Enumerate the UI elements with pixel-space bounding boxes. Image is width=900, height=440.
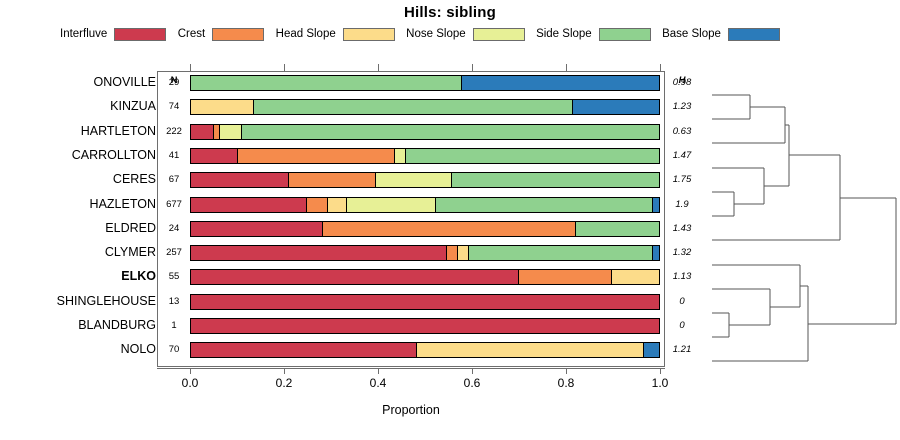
- bar-segment-crest[interactable]: [519, 270, 612, 284]
- x-tick: [566, 368, 567, 374]
- bar-segment-base-slope[interactable]: [653, 198, 659, 212]
- row-n-value: 1: [160, 320, 188, 331]
- row-n-value: 41: [160, 150, 188, 161]
- row-label-clymer: CLYMER: [105, 245, 156, 259]
- bar-segment-crest[interactable]: [238, 149, 396, 163]
- bar-segment-side-slope[interactable]: [469, 246, 653, 260]
- stacked-bar[interactable]: [190, 342, 660, 358]
- stacked-bar[interactable]: [190, 269, 660, 285]
- x-tick-top: [566, 64, 567, 71]
- bar-segment-base-slope[interactable]: [462, 76, 659, 90]
- chart-root: Hills: sibling Interfluve Crest Head Slo…: [0, 0, 900, 440]
- row-label-nolo: NOLO: [121, 342, 156, 356]
- x-tick-top: [472, 64, 473, 71]
- stacked-bar[interactable]: [190, 124, 660, 140]
- bar-segment-base-slope[interactable]: [653, 246, 659, 260]
- stacked-bar[interactable]: [190, 294, 660, 310]
- row-n-value: 222: [160, 126, 188, 137]
- x-tick-top: [378, 64, 379, 71]
- bar-segment-head-slope[interactable]: [612, 270, 659, 284]
- bar-segment-base-slope[interactable]: [573, 100, 659, 114]
- bar-segment-head-slope[interactable]: [191, 100, 254, 114]
- bar-segment-interfluve[interactable]: [191, 125, 214, 139]
- row-label-elko: ELKO: [121, 269, 156, 283]
- x-tick-top: [660, 64, 661, 71]
- stacked-bar[interactable]: [190, 221, 660, 237]
- bar-segment-interfluve[interactable]: [191, 270, 519, 284]
- row-n-value: 13: [160, 296, 188, 307]
- row-label-kinzua: KINZUA: [110, 99, 156, 113]
- x-tick-top: [284, 64, 285, 71]
- x-axis-line: [157, 368, 665, 369]
- bar-segment-interfluve[interactable]: [191, 222, 323, 236]
- row-label-eldred: ELDRED: [105, 221, 156, 235]
- row-n-value: 29: [160, 77, 188, 88]
- row-n-value: 257: [160, 247, 188, 258]
- bar-segment-nose-slope[interactable]: [220, 125, 242, 139]
- x-tick: [472, 368, 473, 374]
- row-n-value: 55: [160, 271, 188, 282]
- stacked-bar[interactable]: [190, 197, 660, 213]
- bar-segment-crest[interactable]: [447, 246, 459, 260]
- bar-segment-side-slope[interactable]: [436, 198, 653, 212]
- bar-segment-interfluve[interactable]: [191, 198, 307, 212]
- dendrogram: [690, 62, 900, 377]
- row-n-value: 24: [160, 223, 188, 234]
- bar-segment-interfluve[interactable]: [191, 343, 417, 357]
- row-label-ceres: CERES: [113, 172, 156, 186]
- bar-segment-interfluve[interactable]: [191, 246, 447, 260]
- stacked-bar[interactable]: [190, 245, 660, 261]
- row-label-blandburg: BLANDBURG: [78, 318, 156, 332]
- bar-segment-head-slope[interactable]: [417, 343, 644, 357]
- stacked-bar[interactable]: [190, 99, 660, 115]
- bar-segment-interfluve[interactable]: [191, 173, 289, 187]
- row-label-onoville: ONOVILLE: [93, 75, 156, 89]
- bar-segment-crest[interactable]: [307, 198, 328, 212]
- bar-segment-nose-slope[interactable]: [347, 198, 436, 212]
- bar-segment-side-slope[interactable]: [452, 173, 659, 187]
- stacked-bar[interactable]: [190, 148, 660, 164]
- x-tick-top: [190, 64, 191, 71]
- bar-segment-interfluve[interactable]: [191, 149, 238, 163]
- x-tick-label: 0.4: [358, 376, 398, 390]
- bar-segment-side-slope[interactable]: [254, 100, 573, 114]
- row-label-shinglehouse: SHINGLEHOUSE: [57, 294, 156, 308]
- row-n-value: 677: [160, 199, 188, 210]
- bar-segment-side-slope[interactable]: [406, 149, 659, 163]
- x-tick-label: 0.2: [264, 376, 304, 390]
- bar-segment-crest[interactable]: [289, 173, 376, 187]
- bar-segment-side-slope[interactable]: [242, 125, 659, 139]
- x-tick: [378, 368, 379, 374]
- bar-segment-nose-slope[interactable]: [395, 149, 406, 163]
- bar-segment-head-slope[interactable]: [328, 198, 347, 212]
- bar-segment-side-slope[interactable]: [191, 76, 462, 90]
- x-tick: [190, 368, 191, 374]
- x-tick: [660, 368, 661, 374]
- bar-segment-head-slope[interactable]: [458, 246, 469, 260]
- bar-segment-nose-slope[interactable]: [376, 173, 451, 187]
- row-n-value: 74: [160, 101, 188, 112]
- x-tick: [284, 368, 285, 374]
- bar-segment-base-slope[interactable]: [644, 343, 659, 357]
- row-label-hartleton: HARTLETON: [81, 124, 156, 138]
- row-n-value: 70: [160, 344, 188, 355]
- stacked-bar[interactable]: [190, 172, 660, 188]
- stacked-bar[interactable]: [190, 318, 660, 334]
- row-label-hazleton: HAZLETON: [90, 197, 156, 211]
- bar-segment-interfluve[interactable]: [191, 295, 659, 309]
- x-tick-label: 0.6: [452, 376, 492, 390]
- x-axis-label: Proportion: [157, 403, 665, 417]
- row-label-carrollton: CARROLLTON: [72, 148, 156, 162]
- bar-segment-interfluve[interactable]: [191, 319, 659, 333]
- x-tick-label: 0.8: [546, 376, 586, 390]
- row-n-value: 67: [160, 174, 188, 185]
- bar-segment-side-slope[interactable]: [576, 222, 659, 236]
- bar-segment-crest[interactable]: [323, 222, 575, 236]
- x-tick-label: 0.0: [170, 376, 210, 390]
- x-tick-label: 1.0: [640, 376, 680, 390]
- stacked-bar[interactable]: [190, 75, 660, 91]
